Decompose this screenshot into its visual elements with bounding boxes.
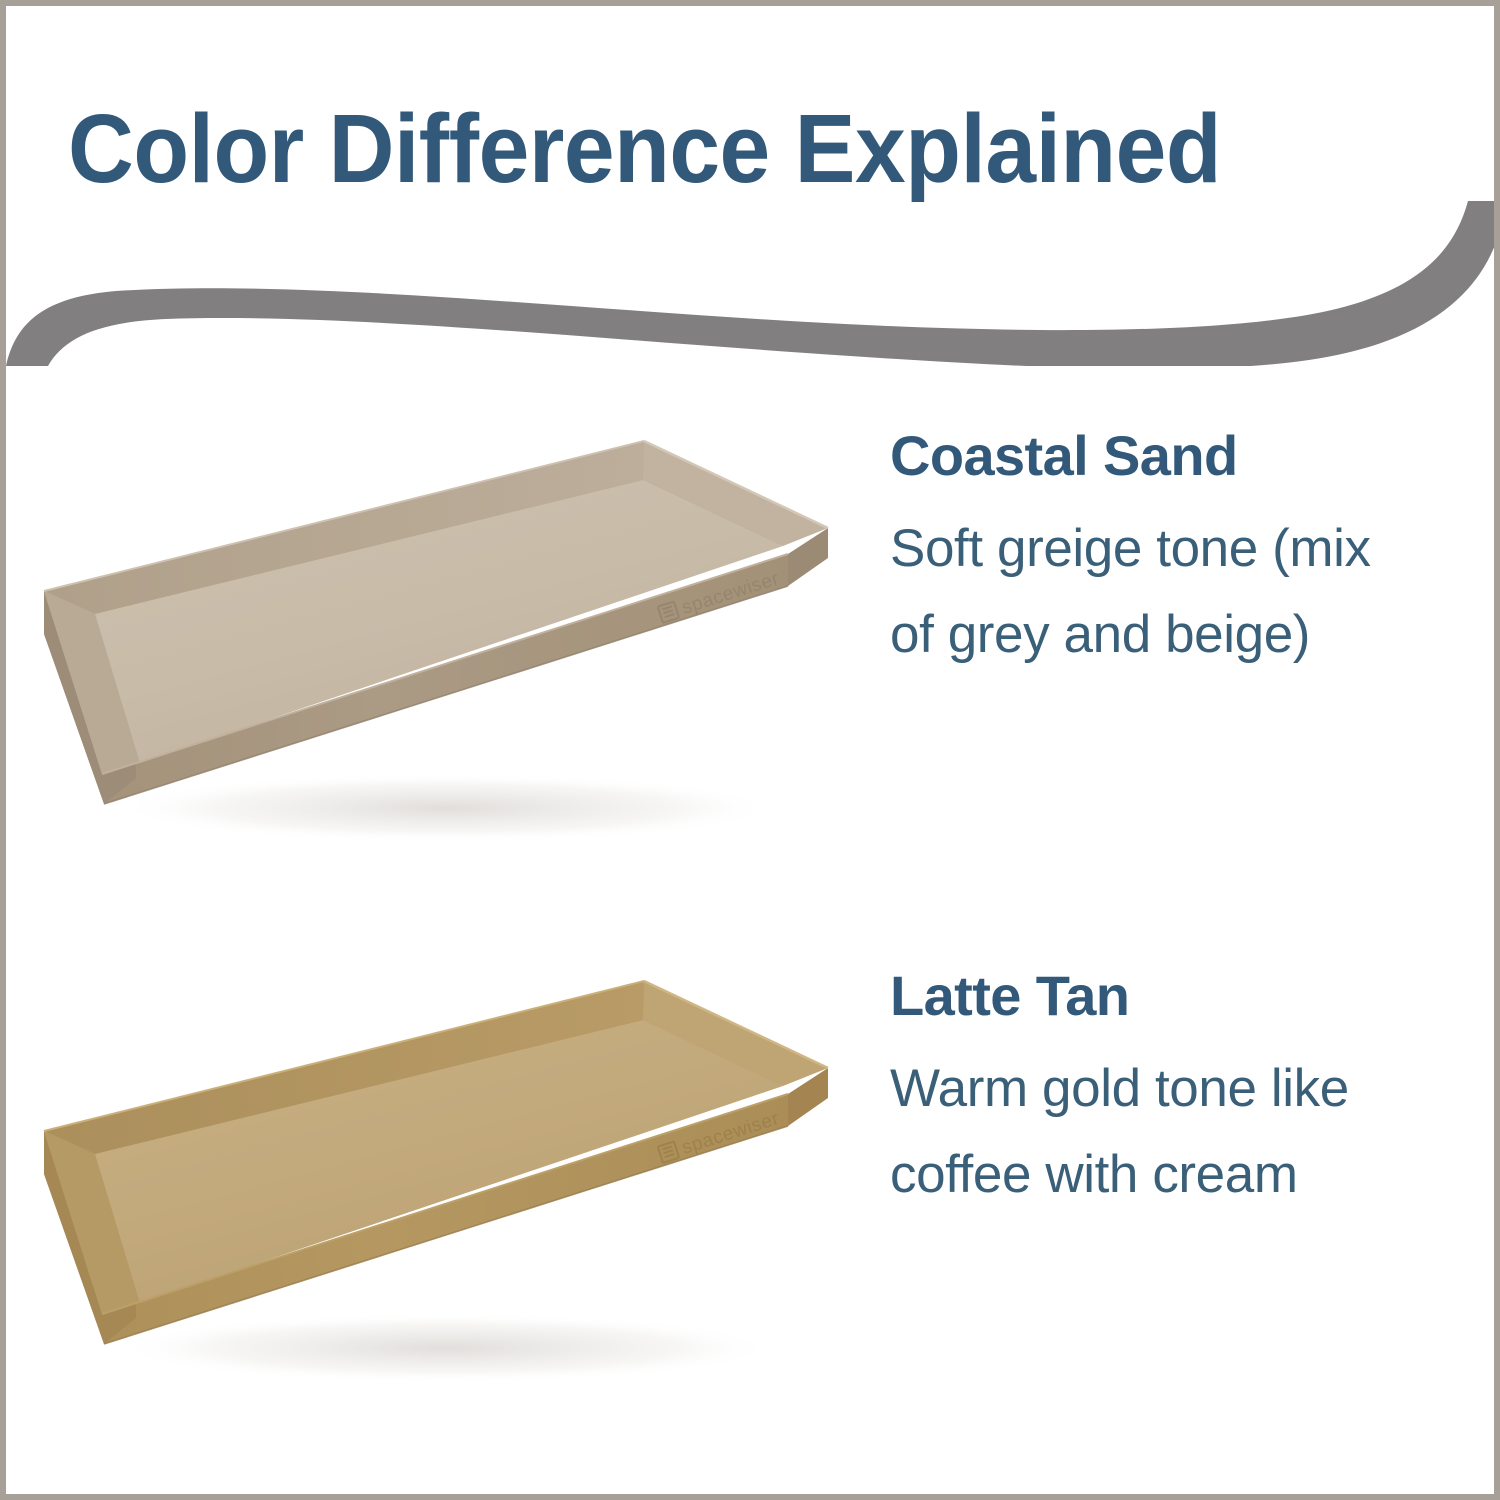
swoosh-divider-icon [6,201,1500,366]
color-name-coastal-sand: Coastal Sand [890,424,1410,488]
product-text-coastal-sand: Coastal Sand Soft greige tone (mix of gr… [890,424,1410,678]
product-row-coastal-sand: spacewiser Coastal Sand Soft greige tone… [6,406,1500,906]
tray-shadow [116,774,776,842]
tray-svg: spacewiser [16,406,856,886]
color-description-coastal-sand: Soft greige tone (mix of grey and beige) [890,506,1410,678]
color-name-latte-tan: Latte Tan [890,964,1410,1028]
product-text-latte-tan: Latte Tan Warm gold tone like coffee wit… [890,964,1410,1218]
tray-shadow [116,1314,776,1382]
color-description-latte-tan: Warm gold tone like coffee with cream [890,1046,1410,1218]
tray-image-coastal-sand: spacewiser [16,406,856,886]
product-row-latte-tan: spacewiser Latte Tan Warm gold tone like… [6,946,1500,1446]
tray-svg: spacewiser [16,946,856,1426]
infographic-page: Color Difference Explained [0,0,1500,1500]
tray-image-latte-tan: spacewiser [16,946,856,1426]
page-title: Color Difference Explained [68,94,1318,204]
